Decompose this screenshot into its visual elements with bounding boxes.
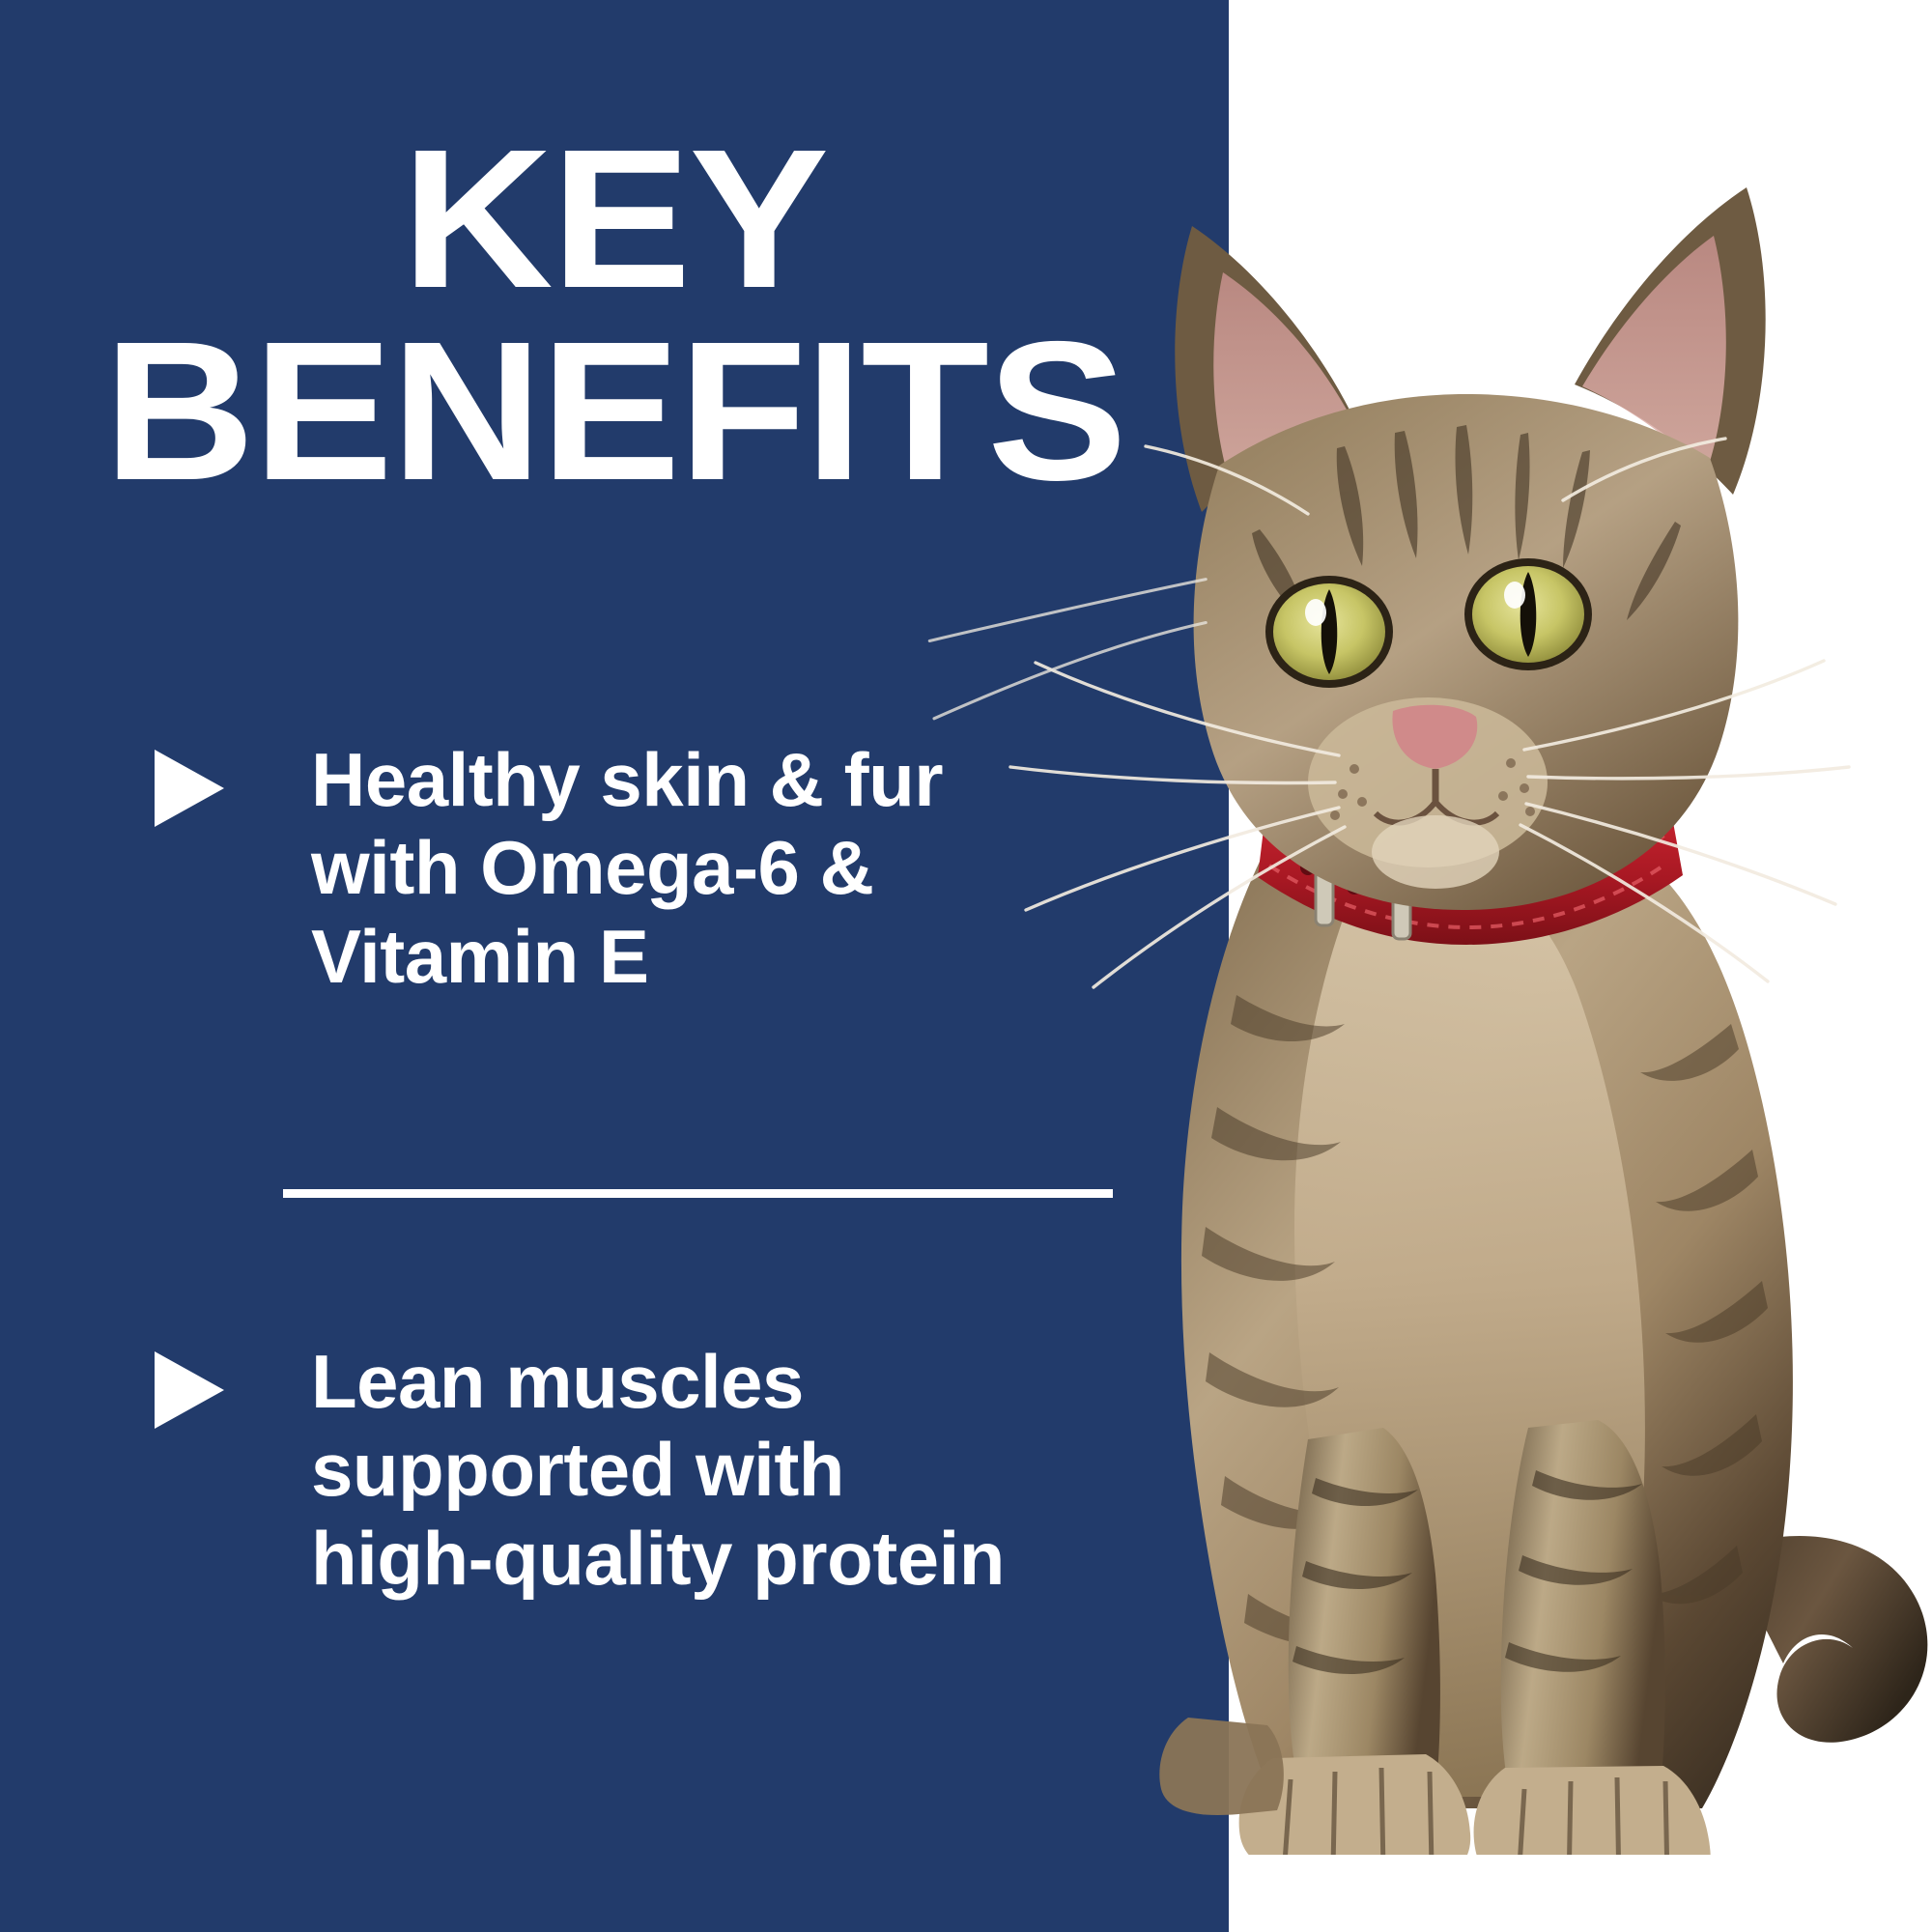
cat-illustration	[929, 126, 1932, 1855]
cat-body	[1181, 842, 1793, 1808]
cat-eye-left	[1265, 576, 1393, 688]
cat-image	[929, 126, 1932, 1855]
triangle-right-icon	[155, 750, 224, 827]
cat-photo-area	[1229, 0, 1932, 1932]
key-benefits-banner: KEY BENEFITS Healthy skin & fur with Ome…	[0, 0, 1932, 1932]
cat-eye-right	[1464, 558, 1592, 670]
triangle-right-icon	[155, 1351, 224, 1429]
cat-head	[1175, 187, 1765, 910]
cat-paw-right	[1474, 1766, 1711, 1855]
cat-paw-back	[1159, 1718, 1284, 1815]
